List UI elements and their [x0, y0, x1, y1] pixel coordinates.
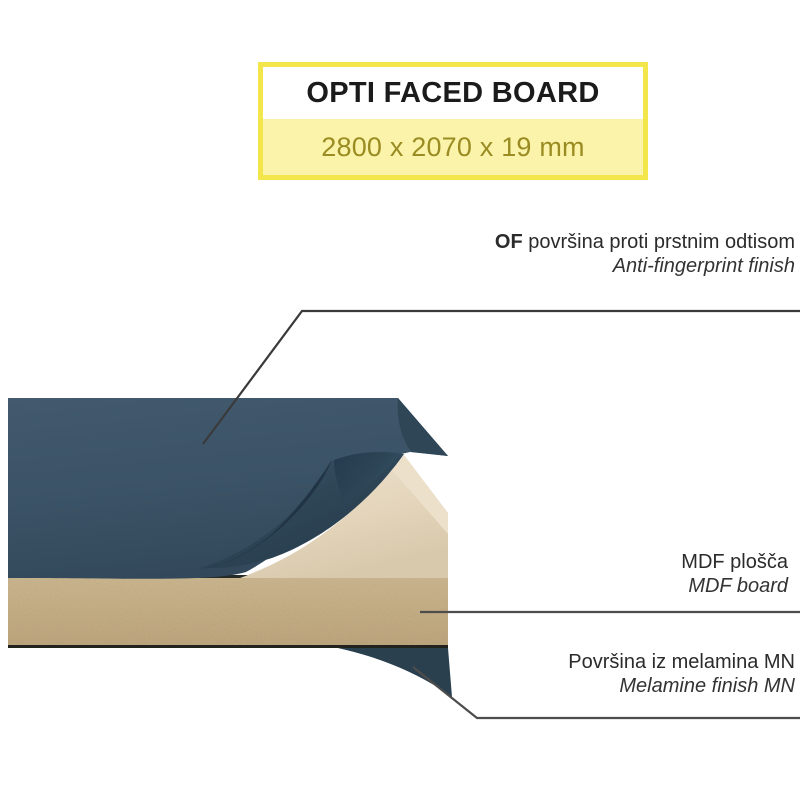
mdf-core-bottom-edge — [8, 645, 448, 648]
top-surface-bevel — [398, 398, 448, 456]
melamine-bottom-layer-tip — [300, 641, 452, 697]
cream-substrate-top-face — [392, 455, 448, 534]
leader-line-anti-fingerprint — [203, 311, 800, 444]
melamine-bottom-layer — [8, 640, 448, 694]
callout-mdf-local: MDF plošča — [681, 551, 788, 575]
callout-melamine-finish: Površina iz melamina MN Melamine finish … — [568, 651, 795, 698]
mdf-core-top-edge — [8, 575, 448, 578]
cream-substrate-layer — [240, 455, 448, 578]
callout-anti-fingerprint: OF površina proti prstnim odtisom Anti-f… — [495, 231, 795, 278]
peeling-foil-flap — [200, 452, 404, 568]
mdf-core-layer — [8, 577, 448, 648]
product-title-row: OPTI FACED BOARD — [263, 67, 643, 119]
callout-anti-fingerprint-local-text: površina proti prstnim odtisom — [523, 231, 795, 253]
top-surface-foil — [8, 398, 448, 579]
callout-anti-fingerprint-local: OF površina proti prstnim odtisom — [495, 231, 795, 255]
callout-mdf-board: MDF plošča MDF board — [681, 551, 788, 598]
peel-crease-shadow — [198, 460, 332, 570]
callout-anti-fingerprint-en: Anti-fingerprint finish — [495, 255, 795, 279]
product-dimensions-text: 2800 x 2070 x 19 mm — [321, 132, 584, 163]
peel-underside — [334, 452, 402, 504]
page-title: OPTI FACED BOARD — [306, 77, 599, 110]
product-title-badge: OPTI FACED BOARD 2800 x 2070 x 19 mm — [258, 62, 648, 180]
callout-melamine-en: Melamine finish MN — [568, 675, 795, 699]
callout-anti-fingerprint-prefix: OF — [495, 231, 523, 253]
product-dimensions-row: 2800 x 2070 x 19 mm — [263, 119, 643, 175]
callout-melamine-local: Površina iz melamina MN — [568, 651, 795, 675]
callout-mdf-en: MDF board — [681, 575, 788, 599]
